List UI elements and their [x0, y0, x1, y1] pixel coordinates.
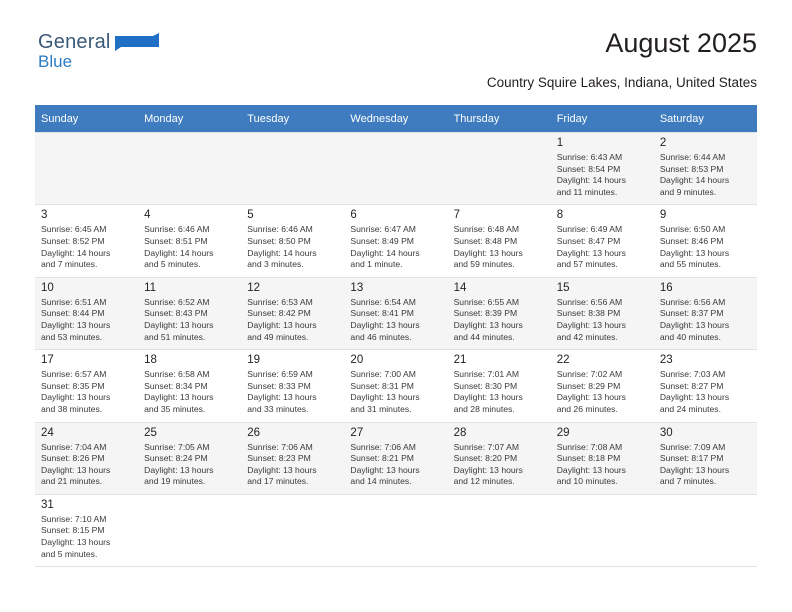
day-info-line: Daylight: 14 hours [41, 248, 132, 260]
day-info-line: and 59 minutes. [454, 259, 545, 271]
calendar-week-row: 17Sunrise: 6:57 AMSunset: 8:35 PMDayligh… [35, 350, 757, 422]
day-info-line: Daylight: 13 hours [557, 248, 648, 260]
day-sun-info: Sunrise: 6:55 AMSunset: 8:39 PMDaylight:… [454, 297, 545, 343]
day-number: 10 [41, 282, 132, 295]
day-info-line: Sunset: 8:30 PM [454, 381, 545, 393]
day-info-line: Sunrise: 6:45 AM [41, 224, 132, 236]
day-info-line: and 5 minutes. [41, 549, 132, 561]
calendar-week-row: 3Sunrise: 6:45 AMSunset: 8:52 PMDaylight… [35, 205, 757, 277]
calendar-day-cell[interactable]: 16Sunrise: 6:56 AMSunset: 8:37 PMDayligh… [654, 277, 757, 349]
calendar-day-cell[interactable]: 14Sunrise: 6:55 AMSunset: 8:39 PMDayligh… [448, 277, 551, 349]
day-info-line: Sunrise: 6:58 AM [144, 369, 235, 381]
day-info-line: and 35 minutes. [144, 404, 235, 416]
day-info-line: Daylight: 13 hours [41, 320, 132, 332]
calendar-empty-cell [138, 494, 241, 566]
calendar-empty-cell [448, 494, 551, 566]
day-number: 29 [557, 427, 648, 440]
calendar-empty-cell [241, 133, 344, 205]
day-info-line: Daylight: 14 hours [557, 175, 648, 187]
day-info-line: Sunrise: 6:56 AM [557, 297, 648, 309]
day-info-line: Sunrise: 6:44 AM [660, 152, 751, 164]
day-info-line: Sunrise: 7:00 AM [350, 369, 441, 381]
day-info-line: Daylight: 13 hours [557, 392, 648, 404]
calendar-day-cell[interactable]: 18Sunrise: 6:58 AMSunset: 8:34 PMDayligh… [138, 350, 241, 422]
day-info-line: and 5 minutes. [144, 259, 235, 271]
calendar-day-cell[interactable]: 19Sunrise: 6:59 AMSunset: 8:33 PMDayligh… [241, 350, 344, 422]
day-sun-info: Sunrise: 7:08 AMSunset: 8:18 PMDaylight:… [557, 442, 648, 488]
day-info-line: Sunrise: 6:50 AM [660, 224, 751, 236]
calendar-day-cell[interactable]: 20Sunrise: 7:00 AMSunset: 8:31 PMDayligh… [344, 350, 447, 422]
calendar-day-cell[interactable]: 10Sunrise: 6:51 AMSunset: 8:44 PMDayligh… [35, 277, 138, 349]
day-info-line: and 9 minutes. [660, 187, 751, 199]
day-sun-info: Sunrise: 7:01 AMSunset: 8:30 PMDaylight:… [454, 369, 545, 415]
day-info-line: Sunrise: 6:49 AM [557, 224, 648, 236]
day-info-line: Sunset: 8:18 PM [557, 453, 648, 465]
day-info-line: Sunrise: 6:53 AM [247, 297, 338, 309]
calendar-day-cell[interactable]: 21Sunrise: 7:01 AMSunset: 8:30 PMDayligh… [448, 350, 551, 422]
day-info-line: Daylight: 13 hours [41, 392, 132, 404]
day-info-line: Sunset: 8:34 PM [144, 381, 235, 393]
day-info-line: and 7 minutes. [660, 476, 751, 488]
day-info-line: Daylight: 14 hours [144, 248, 235, 260]
day-number: 24 [41, 427, 132, 440]
calendar-day-cell[interactable]: 8Sunrise: 6:49 AMSunset: 8:47 PMDaylight… [551, 205, 654, 277]
day-info-line: Sunrise: 7:05 AM [144, 442, 235, 454]
day-sun-info: Sunrise: 6:43 AMSunset: 8:54 PMDaylight:… [557, 152, 648, 198]
day-info-line: Daylight: 13 hours [247, 392, 338, 404]
day-info-line: Sunrise: 7:02 AM [557, 369, 648, 381]
day-number: 18 [144, 354, 235, 367]
calendar-day-cell[interactable]: 31Sunrise: 7:10 AMSunset: 8:15 PMDayligh… [35, 494, 138, 566]
day-info-line: and 11 minutes. [557, 187, 648, 199]
day-info-line: Sunrise: 6:47 AM [350, 224, 441, 236]
day-info-line: and 40 minutes. [660, 332, 751, 344]
day-sun-info: Sunrise: 6:54 AMSunset: 8:41 PMDaylight:… [350, 297, 441, 343]
day-info-line: Sunset: 8:53 PM [660, 164, 751, 176]
day-sun-info: Sunrise: 6:57 AMSunset: 8:35 PMDaylight:… [41, 369, 132, 415]
weekday-header-saturday: Saturday [654, 105, 757, 133]
day-info-line: and 24 minutes. [660, 404, 751, 416]
day-info-line: and 26 minutes. [557, 404, 648, 416]
day-info-line: Daylight: 13 hours [41, 465, 132, 477]
weekday-header-tuesday: Tuesday [241, 105, 344, 133]
calendar-day-cell[interactable]: 24Sunrise: 7:04 AMSunset: 8:26 PMDayligh… [35, 422, 138, 494]
day-number: 17 [41, 354, 132, 367]
day-info-line: Sunrise: 7:04 AM [41, 442, 132, 454]
day-sun-info: Sunrise: 6:46 AMSunset: 8:51 PMDaylight:… [144, 224, 235, 270]
day-sun-info: Sunrise: 6:59 AMSunset: 8:33 PMDaylight:… [247, 369, 338, 415]
day-info-line: Daylight: 13 hours [557, 320, 648, 332]
day-info-line: and 12 minutes. [454, 476, 545, 488]
weekday-header-friday: Friday [551, 105, 654, 133]
day-info-line: and 57 minutes. [557, 259, 648, 271]
day-info-line: Sunset: 8:42 PM [247, 308, 338, 320]
day-info-line: Sunrise: 6:55 AM [454, 297, 545, 309]
day-info-line: Daylight: 14 hours [247, 248, 338, 260]
day-number: 25 [144, 427, 235, 440]
calendar-empty-cell [35, 133, 138, 205]
day-info-line: Daylight: 13 hours [144, 392, 235, 404]
calendar-empty-cell [344, 133, 447, 205]
day-number: 15 [557, 282, 648, 295]
day-info-line: Sunset: 8:27 PM [660, 381, 751, 393]
day-info-line: Daylight: 13 hours [350, 465, 441, 477]
day-number: 21 [454, 354, 545, 367]
day-info-line: Sunset: 8:15 PM [41, 525, 132, 537]
calendar-empty-cell [551, 494, 654, 566]
day-info-line: Sunrise: 6:52 AM [144, 297, 235, 309]
day-info-line: Sunset: 8:17 PM [660, 453, 751, 465]
day-number: 23 [660, 354, 751, 367]
day-info-line: Sunset: 8:51 PM [144, 236, 235, 248]
calendar-day-cell[interactable]: 30Sunrise: 7:09 AMSunset: 8:17 PMDayligh… [654, 422, 757, 494]
day-info-line: Daylight: 13 hours [350, 320, 441, 332]
day-info-line: and 7 minutes. [41, 259, 132, 271]
day-info-line: Sunset: 8:52 PM [41, 236, 132, 248]
day-info-line: Daylight: 13 hours [660, 465, 751, 477]
day-sun-info: Sunrise: 6:49 AMSunset: 8:47 PMDaylight:… [557, 224, 648, 270]
day-sun-info: Sunrise: 7:02 AMSunset: 8:29 PMDaylight:… [557, 369, 648, 415]
day-info-line: Sunset: 8:47 PM [557, 236, 648, 248]
day-info-line: Sunset: 8:41 PM [350, 308, 441, 320]
day-number: 28 [454, 427, 545, 440]
day-info-line: Sunrise: 7:06 AM [247, 442, 338, 454]
day-info-line: Sunrise: 6:54 AM [350, 297, 441, 309]
day-info-line: Sunset: 8:26 PM [41, 453, 132, 465]
day-info-line: and 14 minutes. [350, 476, 441, 488]
day-info-line: and 10 minutes. [557, 476, 648, 488]
day-number: 5 [247, 209, 338, 222]
day-sun-info: Sunrise: 7:10 AMSunset: 8:15 PMDaylight:… [41, 514, 132, 560]
calendar-day-cell[interactable]: 29Sunrise: 7:08 AMSunset: 8:18 PMDayligh… [551, 422, 654, 494]
day-sun-info: Sunrise: 7:07 AMSunset: 8:20 PMDaylight:… [454, 442, 545, 488]
day-number: 11 [144, 282, 235, 295]
day-info-line: and 28 minutes. [454, 404, 545, 416]
day-info-line: and 46 minutes. [350, 332, 441, 344]
day-info-line: and 44 minutes. [454, 332, 545, 344]
day-info-line: and 33 minutes. [247, 404, 338, 416]
day-info-line: and 21 minutes. [41, 476, 132, 488]
day-info-line: Daylight: 13 hours [247, 320, 338, 332]
day-info-line: Sunset: 8:38 PM [557, 308, 648, 320]
day-info-line: Sunset: 8:54 PM [557, 164, 648, 176]
day-sun-info: Sunrise: 6:51 AMSunset: 8:44 PMDaylight:… [41, 297, 132, 343]
weekday-header-thursday: Thursday [448, 105, 551, 133]
calendar-empty-cell [241, 494, 344, 566]
day-sun-info: Sunrise: 6:50 AMSunset: 8:46 PMDaylight:… [660, 224, 751, 270]
day-info-line: Sunset: 8:24 PM [144, 453, 235, 465]
day-number: 31 [41, 499, 132, 512]
day-sun-info: Sunrise: 6:44 AMSunset: 8:53 PMDaylight:… [660, 152, 751, 198]
day-info-line: Daylight: 13 hours [454, 248, 545, 260]
day-info-line: Sunrise: 7:07 AM [454, 442, 545, 454]
day-info-line: and 53 minutes. [41, 332, 132, 344]
day-number: 13 [350, 282, 441, 295]
day-info-line: and 38 minutes. [41, 404, 132, 416]
day-sun-info: Sunrise: 7:06 AMSunset: 8:21 PMDaylight:… [350, 442, 441, 488]
day-number: 7 [454, 209, 545, 222]
day-info-line: Sunset: 8:44 PM [41, 308, 132, 320]
calendar-day-cell[interactable]: 23Sunrise: 7:03 AMSunset: 8:27 PMDayligh… [654, 350, 757, 422]
calendar-day-cell[interactable]: 6Sunrise: 6:47 AMSunset: 8:49 PMDaylight… [344, 205, 447, 277]
day-info-line: Daylight: 13 hours [247, 465, 338, 477]
day-info-line: and 3 minutes. [247, 259, 338, 271]
day-info-line: Daylight: 13 hours [144, 320, 235, 332]
logo-text-blue: Blue [38, 53, 218, 71]
calendar-day-cell[interactable]: 4Sunrise: 6:46 AMSunset: 8:51 PMDaylight… [138, 205, 241, 277]
calendar-empty-cell [344, 494, 447, 566]
day-info-line: Sunrise: 6:48 AM [454, 224, 545, 236]
calendar-day-cell[interactable]: 17Sunrise: 6:57 AMSunset: 8:35 PMDayligh… [35, 350, 138, 422]
day-number: 1 [557, 137, 648, 150]
day-info-line: Sunset: 8:37 PM [660, 308, 751, 320]
day-number: 4 [144, 209, 235, 222]
day-number: 30 [660, 427, 751, 440]
day-number: 14 [454, 282, 545, 295]
day-info-line: Sunset: 8:29 PM [557, 381, 648, 393]
day-sun-info: Sunrise: 7:00 AMSunset: 8:31 PMDaylight:… [350, 369, 441, 415]
day-info-line: Daylight: 13 hours [660, 248, 751, 260]
calendar-day-cell[interactable]: 9Sunrise: 6:50 AMSunset: 8:46 PMDaylight… [654, 205, 757, 277]
day-info-line: Sunrise: 6:57 AM [41, 369, 132, 381]
calendar-week-row: 24Sunrise: 7:04 AMSunset: 8:26 PMDayligh… [35, 422, 757, 494]
day-info-line: Sunrise: 6:46 AM [144, 224, 235, 236]
day-number: 6 [350, 209, 441, 222]
calendar-table: Sunday Monday Tuesday Wednesday Thursday… [35, 105, 757, 567]
weekday-header-monday: Monday [138, 105, 241, 133]
day-info-line: Daylight: 13 hours [660, 392, 751, 404]
day-info-line: Daylight: 14 hours [660, 175, 751, 187]
calendar-page: General Blue August 2025 Country Squire … [0, 0, 792, 612]
weekday-header-wednesday: Wednesday [344, 105, 447, 133]
day-sun-info: Sunrise: 6:45 AMSunset: 8:52 PMDaylight:… [41, 224, 132, 270]
calendar-day-cell[interactable]: 28Sunrise: 7:07 AMSunset: 8:20 PMDayligh… [448, 422, 551, 494]
calendar-empty-cell [654, 494, 757, 566]
calendar-day-cell[interactable]: 2Sunrise: 6:44 AMSunset: 8:53 PMDaylight… [654, 133, 757, 205]
day-info-line: Daylight: 13 hours [454, 320, 545, 332]
day-info-line: Sunset: 8:43 PM [144, 308, 235, 320]
day-number: 22 [557, 354, 648, 367]
day-sun-info: Sunrise: 6:56 AMSunset: 8:38 PMDaylight:… [557, 297, 648, 343]
day-info-line: and 31 minutes. [350, 404, 441, 416]
flag-icon [115, 33, 159, 55]
day-info-line: Sunrise: 6:56 AM [660, 297, 751, 309]
calendar-day-cell[interactable]: 27Sunrise: 7:06 AMSunset: 8:21 PMDayligh… [344, 422, 447, 494]
calendar-day-cell[interactable]: 5Sunrise: 6:46 AMSunset: 8:50 PMDaylight… [241, 205, 344, 277]
day-sun-info: Sunrise: 6:48 AMSunset: 8:48 PMDaylight:… [454, 224, 545, 270]
day-sun-info: Sunrise: 7:09 AMSunset: 8:17 PMDaylight:… [660, 442, 751, 488]
day-sun-info: Sunrise: 6:56 AMSunset: 8:37 PMDaylight:… [660, 297, 751, 343]
calendar-day-cell[interactable]: 13Sunrise: 6:54 AMSunset: 8:41 PMDayligh… [344, 277, 447, 349]
page-title: August 2025 [605, 28, 757, 59]
day-sun-info: Sunrise: 6:53 AMSunset: 8:42 PMDaylight:… [247, 297, 338, 343]
day-info-line: Sunrise: 7:08 AM [557, 442, 648, 454]
day-info-line: Sunset: 8:35 PM [41, 381, 132, 393]
calendar-week-row: 1Sunrise: 6:43 AMSunset: 8:54 PMDaylight… [35, 133, 757, 205]
day-info-line: Sunset: 8:50 PM [247, 236, 338, 248]
day-info-line: Sunset: 8:48 PM [454, 236, 545, 248]
calendar-day-cell[interactable]: 15Sunrise: 6:56 AMSunset: 8:38 PMDayligh… [551, 277, 654, 349]
day-number: 16 [660, 282, 751, 295]
day-info-line: Sunrise: 7:01 AM [454, 369, 545, 381]
calendar-day-cell[interactable]: 25Sunrise: 7:05 AMSunset: 8:24 PMDayligh… [138, 422, 241, 494]
day-info-line: Sunrise: 7:06 AM [350, 442, 441, 454]
day-info-line: Sunrise: 6:43 AM [557, 152, 648, 164]
day-info-line: Sunset: 8:46 PM [660, 236, 751, 248]
day-info-line: Daylight: 13 hours [144, 465, 235, 477]
day-info-line: and 51 minutes. [144, 332, 235, 344]
day-info-line: and 55 minutes. [660, 259, 751, 271]
day-info-line: and 49 minutes. [247, 332, 338, 344]
day-number: 2 [660, 137, 751, 150]
day-info-line: Sunset: 8:39 PM [454, 308, 545, 320]
calendar-day-cell[interactable]: 22Sunrise: 7:02 AMSunset: 8:29 PMDayligh… [551, 350, 654, 422]
day-info-line: Sunset: 8:23 PM [247, 453, 338, 465]
calendar-empty-cell [448, 133, 551, 205]
day-info-line: Sunset: 8:21 PM [350, 453, 441, 465]
general-blue-logo: General Blue [38, 32, 218, 71]
calendar-week-row: 10Sunrise: 6:51 AMSunset: 8:44 PMDayligh… [35, 277, 757, 349]
calendar-header-row: Sunday Monday Tuesday Wednesday Thursday… [35, 105, 757, 133]
day-info-line: Sunrise: 6:59 AM [247, 369, 338, 381]
day-number: 19 [247, 354, 338, 367]
calendar-day-cell[interactable]: 3Sunrise: 6:45 AMSunset: 8:52 PMDaylight… [35, 205, 138, 277]
day-info-line: Sunset: 8:31 PM [350, 381, 441, 393]
day-info-line: Daylight: 13 hours [557, 465, 648, 477]
day-sun-info: Sunrise: 7:03 AMSunset: 8:27 PMDaylight:… [660, 369, 751, 415]
calendar-empty-cell [138, 133, 241, 205]
calendar-day-cell[interactable]: 7Sunrise: 6:48 AMSunset: 8:48 PMDaylight… [448, 205, 551, 277]
day-info-line: Sunset: 8:33 PM [247, 381, 338, 393]
calendar-day-cell[interactable]: 1Sunrise: 6:43 AMSunset: 8:54 PMDaylight… [551, 133, 654, 205]
calendar-day-cell[interactable]: 26Sunrise: 7:06 AMSunset: 8:23 PMDayligh… [241, 422, 344, 494]
calendar-day-cell[interactable]: 11Sunrise: 6:52 AMSunset: 8:43 PMDayligh… [138, 277, 241, 349]
day-number: 9 [660, 209, 751, 222]
day-info-line: Daylight: 13 hours [41, 537, 132, 549]
day-sun-info: Sunrise: 6:46 AMSunset: 8:50 PMDaylight:… [247, 224, 338, 270]
day-sun-info: Sunrise: 7:05 AMSunset: 8:24 PMDaylight:… [144, 442, 235, 488]
day-info-line: Daylight: 13 hours [454, 465, 545, 477]
day-info-line: and 19 minutes. [144, 476, 235, 488]
day-sun-info: Sunrise: 6:58 AMSunset: 8:34 PMDaylight:… [144, 369, 235, 415]
day-sun-info: Sunrise: 6:47 AMSunset: 8:49 PMDaylight:… [350, 224, 441, 270]
calendar-day-cell[interactable]: 12Sunrise: 6:53 AMSunset: 8:42 PMDayligh… [241, 277, 344, 349]
day-number: 3 [41, 209, 132, 222]
day-info-line: Daylight: 13 hours [660, 320, 751, 332]
day-number: 27 [350, 427, 441, 440]
calendar-body: 1Sunrise: 6:43 AMSunset: 8:54 PMDaylight… [35, 133, 757, 567]
page-header: General Blue August 2025 Country Squire … [35, 0, 757, 72]
day-info-line: Daylight: 13 hours [454, 392, 545, 404]
day-info-line: and 17 minutes. [247, 476, 338, 488]
day-info-line: Sunset: 8:20 PM [454, 453, 545, 465]
day-info-line: and 1 minute. [350, 259, 441, 271]
day-info-line: and 42 minutes. [557, 332, 648, 344]
day-info-line: Daylight: 14 hours [350, 248, 441, 260]
day-sun-info: Sunrise: 6:52 AMSunset: 8:43 PMDaylight:… [144, 297, 235, 343]
weekday-header-sunday: Sunday [35, 105, 138, 133]
day-info-line: Sunrise: 7:03 AM [660, 369, 751, 381]
day-number: 20 [350, 354, 441, 367]
day-sun-info: Sunrise: 7:04 AMSunset: 8:26 PMDaylight:… [41, 442, 132, 488]
day-number: 8 [557, 209, 648, 222]
page-subtitle: Country Squire Lakes, Indiana, United St… [487, 75, 757, 90]
day-sun-info: Sunrise: 7:06 AMSunset: 8:23 PMDaylight:… [247, 442, 338, 488]
day-info-line: Sunset: 8:49 PM [350, 236, 441, 248]
day-info-line: Daylight: 13 hours [350, 392, 441, 404]
calendar-week-row: 31Sunrise: 7:10 AMSunset: 8:15 PMDayligh… [35, 494, 757, 566]
day-info-line: Sunrise: 7:10 AM [41, 514, 132, 526]
day-info-line: Sunrise: 6:51 AM [41, 297, 132, 309]
day-number: 12 [247, 282, 338, 295]
day-info-line: Sunrise: 7:09 AM [660, 442, 751, 454]
day-number: 26 [247, 427, 338, 440]
day-info-line: Sunrise: 6:46 AM [247, 224, 338, 236]
